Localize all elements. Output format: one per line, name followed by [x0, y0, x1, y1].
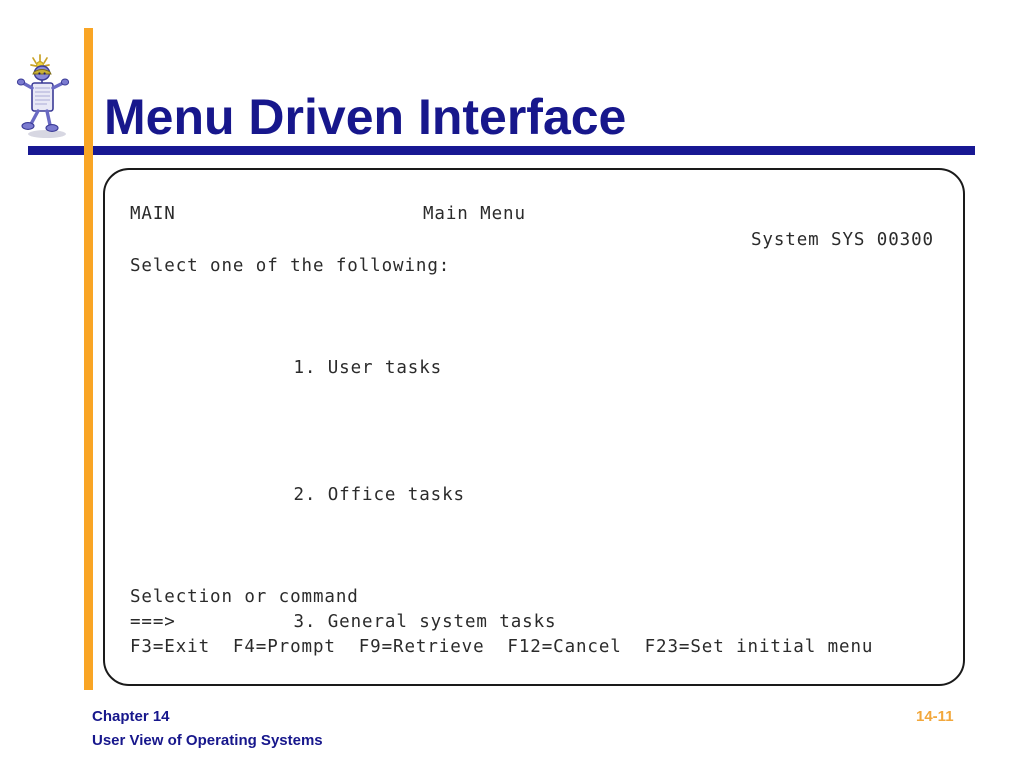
menu-item-number: 2.: [222, 483, 317, 508]
footer-chapter: Chapter 14: [92, 708, 170, 725]
terminal-function-keys: F3=Exit F4=Prompt F9=Retrieve F12=Cancel…: [130, 635, 873, 660]
terminal-command-input[interactable]: ===>: [130, 610, 176, 635]
menu-item-gap: [316, 610, 327, 635]
terminal-system-line: System SYS 00300: [751, 228, 934, 253]
menu-item-gap: [316, 483, 327, 508]
terminal-panel: MAIN Main Menu System SYS 00300 Select o…: [103, 168, 965, 686]
footer-subtitle: User View of Operating Systems: [92, 732, 323, 749]
slide-header: Menu Driven Interface: [0, 0, 1024, 165]
terminal-selection-label: Selection or command: [130, 585, 359, 610]
accent-bar-vertical: [84, 28, 93, 690]
menu-item-label: Office tasks: [328, 483, 465, 508]
page-title: Menu Driven Interface: [104, 92, 626, 142]
menu-item[interactable]: 2. Office tasks: [130, 458, 659, 534]
menu-item[interactable]: 1. User tasks: [130, 331, 659, 407]
slide-footer: Chapter 14 User View of Operating System…: [0, 703, 1024, 768]
menu-item-number: 3.: [222, 610, 317, 635]
terminal-screen-id: MAIN: [130, 202, 176, 227]
menu-item-label: General system tasks: [328, 610, 557, 635]
menu-item-number: 1.: [222, 356, 317, 381]
terminal-menu-list: 1. User tasks 2. Office tasks 3. General…: [130, 280, 659, 686]
title-underline-rule: [28, 146, 975, 155]
command-prompt-arrow: ===>: [130, 612, 176, 632]
terminal-screen-title: Main Menu: [423, 202, 526, 227]
terminal-select-prompt: Select one of the following:: [130, 254, 450, 279]
stick-figure-with-idea-bulb-icon: [13, 52, 81, 140]
terminal-screen: MAIN Main Menu System SYS 00300 Select o…: [105, 170, 963, 684]
footer-page-number: 14-11: [916, 708, 954, 725]
menu-item-label: User tasks: [328, 356, 442, 381]
menu-item-gap: [316, 356, 327, 381]
